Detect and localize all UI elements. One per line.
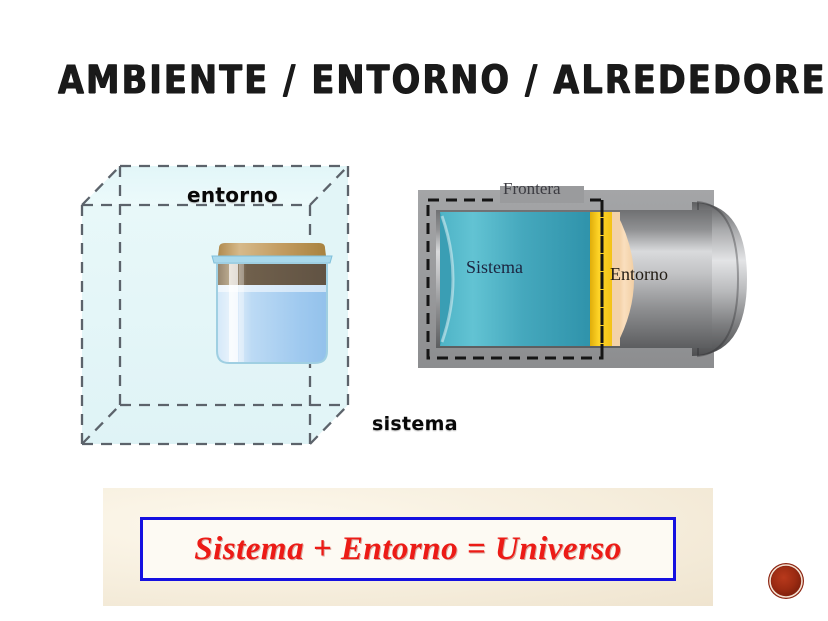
cube-outer-label: entorno [187, 183, 278, 207]
cube-inner-label: sistema [372, 413, 458, 435]
beaker-dark-band [209, 263, 335, 285]
cylinder-boundary-label: Frontera [503, 179, 561, 199]
beaker-illustration: sistema [209, 239, 335, 371]
bullet-circle-icon [766, 561, 806, 601]
beaker-sheen [209, 285, 335, 292]
bullet-core [772, 567, 801, 596]
cylinder-system-label: Sistema [466, 257, 523, 278]
beaker-highlight-soft [239, 263, 244, 363]
beaker-highlight [229, 263, 238, 363]
slide-bullet-mark [766, 561, 806, 601]
beaker-lid [218, 243, 326, 256]
beaker-rim [212, 256, 332, 263]
page-title: AMBIENTE / ENTORNO / ALREDEDORES [58, 58, 770, 103]
cube-diagram: entorno [60, 145, 380, 475]
formula-box: Sistema + Entorno = Universo [140, 517, 676, 581]
formula-panel: Sistema + Entorno = Universo [103, 488, 713, 606]
cylinder-svg [402, 172, 762, 377]
cylinder-surroundings-label: Entorno [610, 264, 668, 285]
cylinder-diagram: Frontera Sistema Entorno [402, 172, 762, 377]
beaker-svg [209, 239, 335, 371]
system-region [440, 212, 590, 346]
formula-text: Sistema + Entorno = Universo [194, 531, 622, 568]
beaker-liquid [209, 285, 335, 365]
